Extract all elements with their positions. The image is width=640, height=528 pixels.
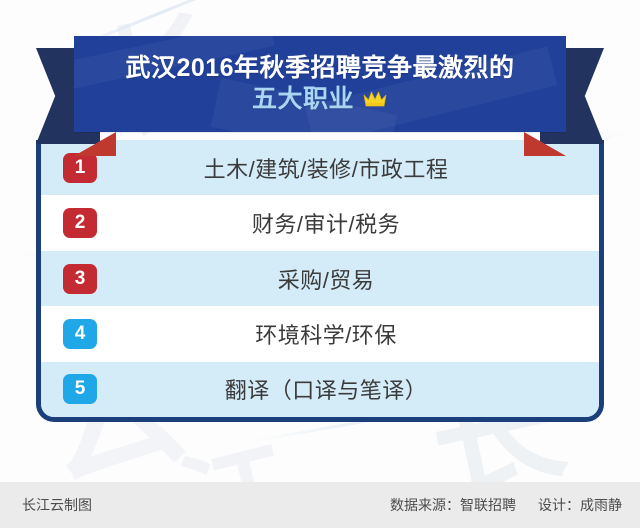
list-item: 4 环境科学/环保	[41, 306, 599, 361]
infographic-poster: 长 江 云 长 江 1 土木/建筑/装修/市政工程 2 财务/审计/税务 3 采…	[0, 0, 640, 528]
page-title-line2: 五大职业	[252, 85, 354, 114]
list-item-label: 财务/审计/税务	[97, 207, 599, 239]
rank-badge: 4	[63, 319, 97, 349]
footer-source: 数据来源：智联招聘	[390, 495, 516, 515]
list-item: 3 采购/贸易	[41, 251, 599, 306]
list-item-label: 采购/贸易	[97, 263, 599, 295]
banner-body: 武汉2016年秋季招聘竞争最激烈的 五大职业	[74, 36, 566, 132]
list-item: 2 财务/审计/税务	[41, 195, 599, 250]
page-title-line2-row: 五大职业	[252, 85, 388, 114]
title-ribbon: 武汉2016年秋季招聘竞争最激烈的 五大职业	[0, 36, 640, 144]
list-item-label: 翻译（口译与笔译）	[97, 373, 599, 405]
footer-meta: 数据来源：智联招聘 设计：成雨静	[390, 495, 640, 515]
footer-credit: 长江云制图	[0, 495, 92, 515]
rank-badge: 1	[63, 153, 97, 183]
ranking-list: 1 土木/建筑/装修/市政工程 2 财务/审计/税务 3 采购/贸易 4 环境科…	[41, 140, 599, 417]
list-item: 5 翻译（口译与笔译）	[41, 362, 599, 417]
banner-sheen	[74, 36, 566, 132]
ranking-card: 1 土木/建筑/装修/市政工程 2 财务/审计/税务 3 采购/贸易 4 环境科…	[36, 140, 604, 422]
list-item: 1 土木/建筑/装修/市政工程	[41, 140, 599, 195]
rank-badge: 5	[63, 374, 97, 404]
crown-icon	[362, 89, 388, 109]
rank-badge: 2	[63, 208, 97, 238]
list-item-label: 土木/建筑/装修/市政工程	[97, 152, 599, 184]
footer-designer: 设计：成雨静	[538, 495, 622, 515]
rank-badge: 3	[63, 264, 97, 294]
page-title-line1: 武汉2016年秋季招聘竞争最激烈的	[125, 54, 514, 83]
footer-bar: 长江云制图 数据来源：智联招聘 设计：成雨静	[0, 482, 640, 528]
list-item-label: 环境科学/环保	[97, 318, 599, 350]
